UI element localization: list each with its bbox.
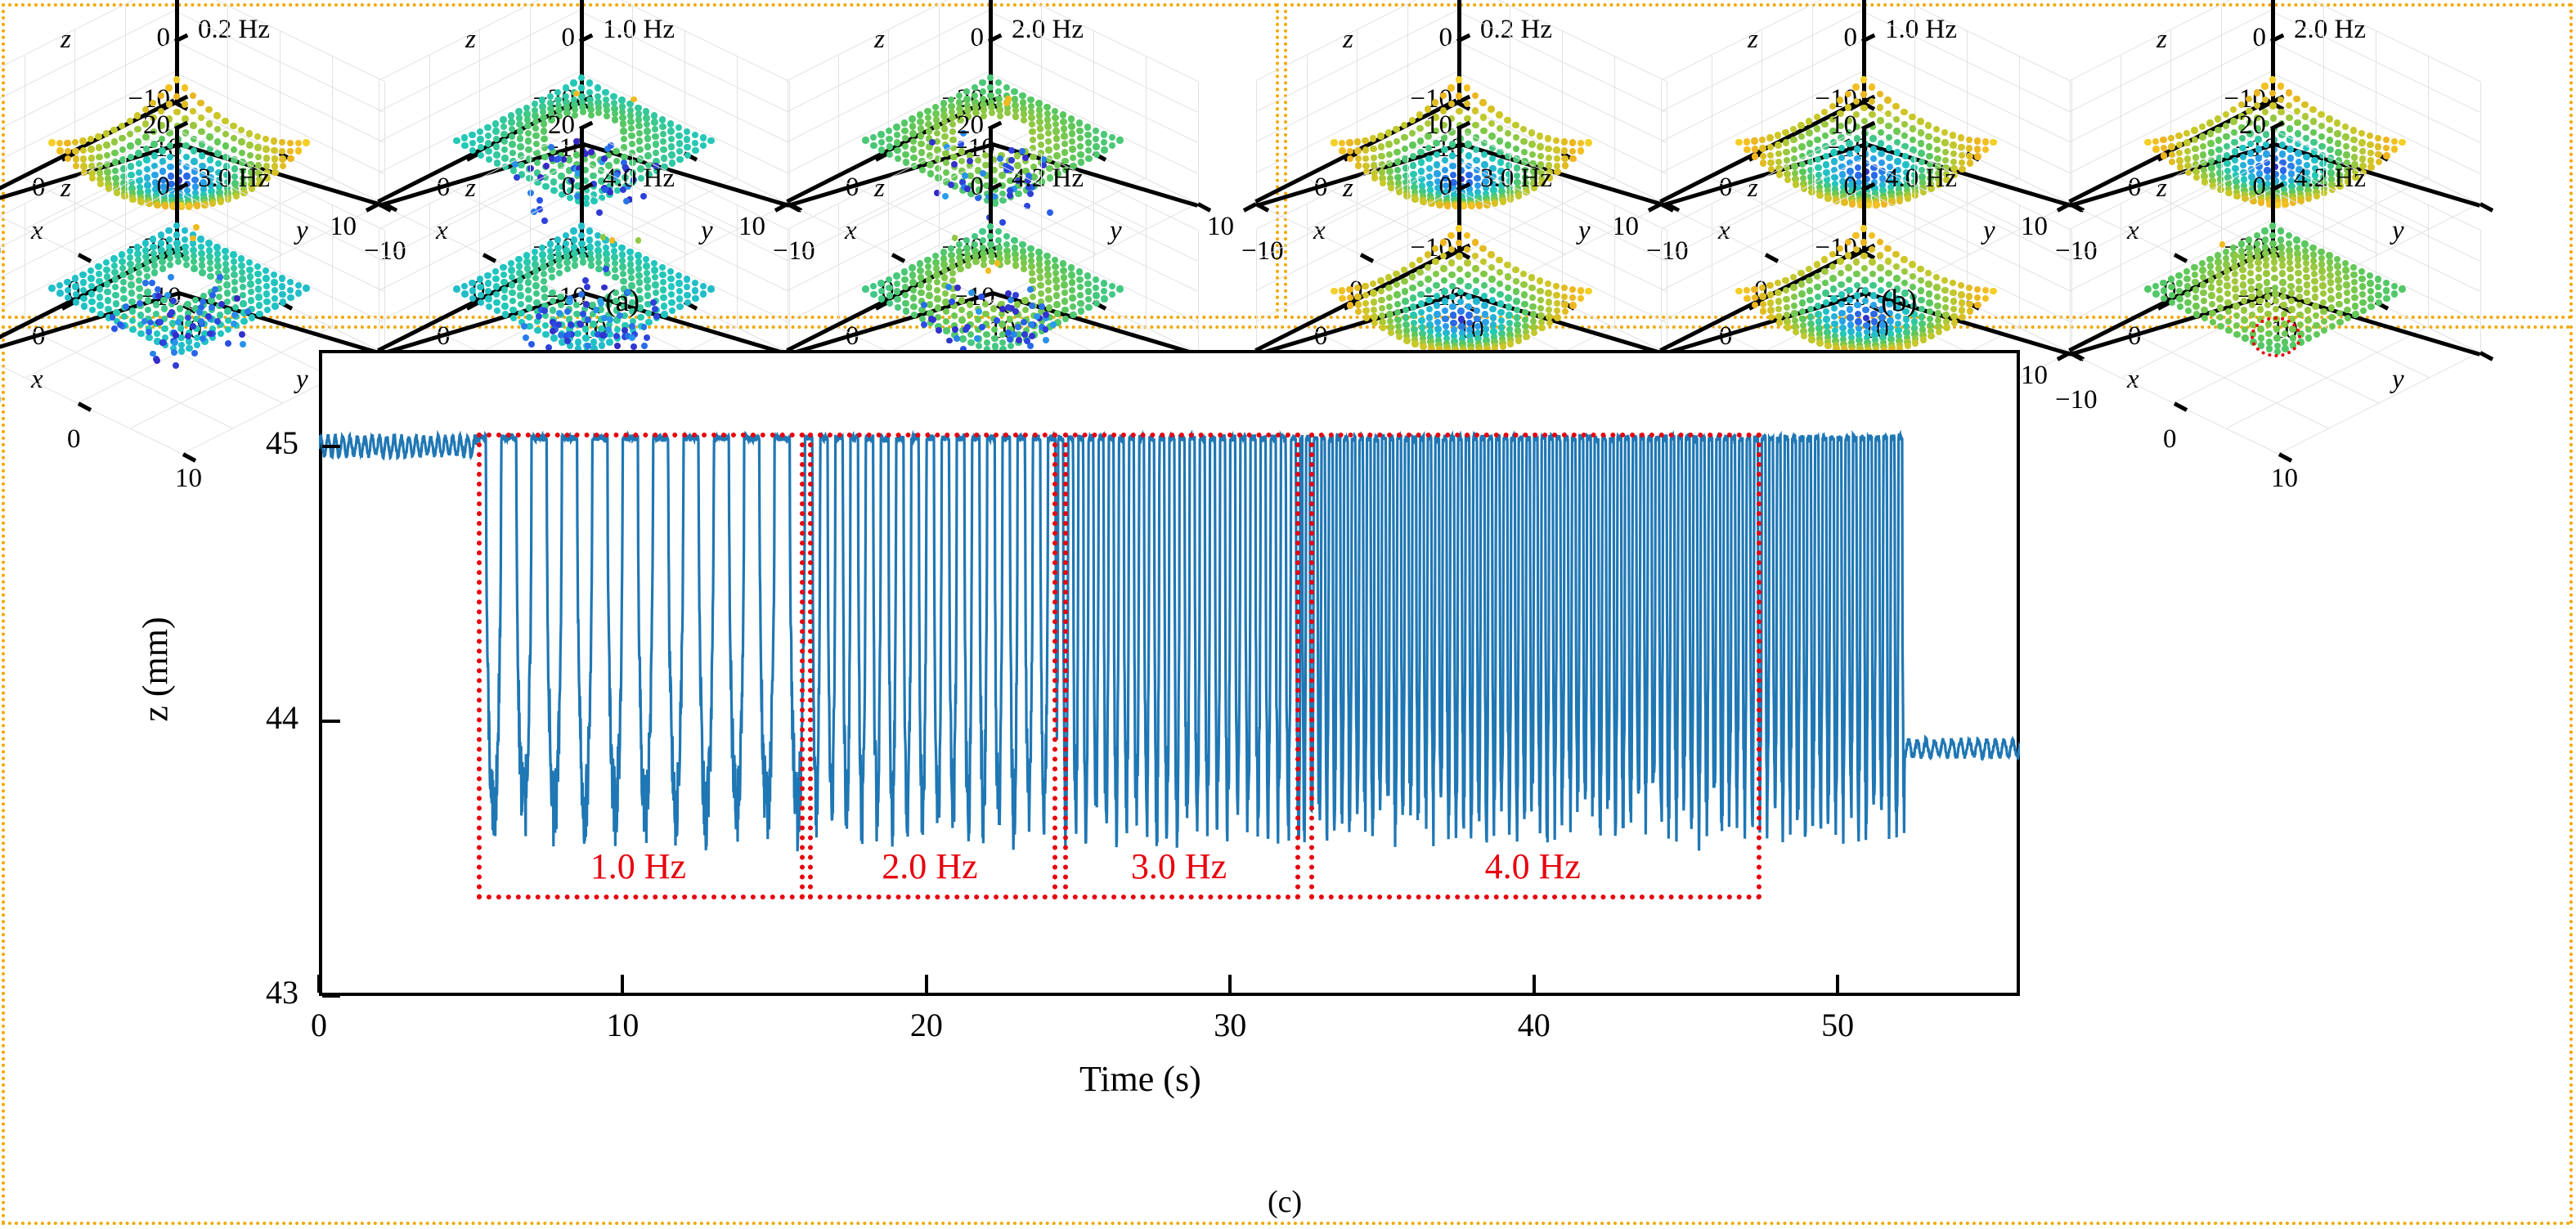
data-point (1053, 292, 1060, 298)
data-point (199, 262, 205, 268)
data-point (1077, 135, 1084, 141)
data-point (2273, 298, 2279, 304)
data-point (1497, 137, 1503, 144)
data-point (2255, 259, 2261, 266)
data-point (238, 138, 245, 145)
data-point (2352, 311, 2358, 317)
data-point (1061, 307, 1068, 313)
data-point (1464, 259, 1470, 266)
data-point (2351, 279, 2358, 285)
data-point (88, 290, 95, 297)
data-point (255, 278, 262, 285)
data-point (2175, 272, 2182, 279)
data-point (287, 140, 294, 146)
data-point (1068, 271, 1075, 278)
data-point (119, 258, 125, 265)
data-point (1004, 110, 1011, 116)
data-point (1354, 138, 1361, 145)
data-point (238, 262, 245, 269)
data-point (2261, 227, 2268, 234)
data-point (1784, 324, 1791, 330)
grid-line (1146, 204, 1147, 327)
data-point (2176, 295, 2183, 302)
data-point (2336, 301, 2342, 307)
data-point (1109, 142, 1115, 149)
data-point (1370, 289, 1376, 296)
data-point (1942, 296, 1949, 303)
data-point (1798, 290, 1805, 297)
data-point (2216, 279, 2223, 285)
data-point (509, 307, 516, 313)
data-point (1919, 313, 1925, 320)
data-point (508, 260, 514, 267)
data-point (886, 292, 893, 298)
data-point (518, 301, 524, 307)
data-point (2286, 114, 2292, 121)
data-point (2399, 285, 2405, 292)
data-point (2225, 308, 2232, 315)
data-point (1481, 302, 1488, 308)
grid-line (1667, 230, 1667, 352)
data-point (1958, 144, 1964, 150)
data-point (1885, 123, 1892, 129)
data-point (692, 132, 698, 138)
data-point (486, 303, 492, 310)
y-tick-label: 10 (175, 464, 202, 494)
data-point (461, 283, 468, 289)
data-point (1807, 313, 1814, 320)
data-point (1447, 84, 1454, 91)
data-point (184, 301, 191, 307)
data-point (549, 274, 555, 280)
data-point (910, 146, 917, 152)
data-point (168, 274, 174, 280)
data-point (1838, 301, 1845, 307)
data-point (926, 292, 932, 298)
data-point (2217, 304, 2224, 311)
data-point (182, 236, 188, 243)
data-point (2278, 83, 2284, 89)
data-point (1862, 307, 1869, 313)
data-point (700, 142, 707, 149)
data-point (1401, 278, 1407, 285)
data-point (1553, 146, 1560, 153)
data-point (1346, 139, 1353, 146)
data-point (1394, 301, 1401, 307)
data-point (1926, 290, 1932, 297)
data-point (2168, 135, 2174, 141)
data-point (595, 259, 602, 266)
data-point (1966, 293, 1972, 299)
data-point (222, 118, 228, 124)
data-point (158, 92, 164, 99)
data-point (2278, 96, 2284, 103)
data-point (570, 79, 577, 86)
data-point (644, 135, 651, 141)
data-point (586, 236, 593, 243)
data-point (1385, 285, 1392, 291)
data-point (161, 305, 168, 312)
data-point (1053, 284, 1060, 290)
data-point (612, 116, 618, 123)
data-point (1845, 91, 1851, 97)
data-point (147, 320, 154, 326)
data-point (1893, 128, 1900, 134)
data-point (886, 276, 892, 283)
data-point (1046, 304, 1052, 311)
data-point (477, 284, 483, 290)
data-point (1061, 289, 1068, 296)
data-point (485, 140, 491, 146)
data-point (1806, 277, 1812, 284)
data-point (925, 263, 931, 270)
data-point (1043, 104, 1050, 110)
data-point (501, 303, 508, 309)
data-point (501, 294, 508, 301)
data-point (1569, 294, 1576, 301)
data-point (1528, 141, 1535, 147)
data-point (469, 140, 476, 146)
data-point (1116, 285, 1123, 292)
data-point (2184, 291, 2191, 298)
data-point (1878, 276, 1884, 283)
grid-line (1661, 230, 1662, 352)
data-point (1877, 117, 1883, 123)
data-point (2318, 249, 2324, 255)
data-point (1829, 251, 1836, 258)
data-point (894, 296, 900, 303)
data-point (159, 258, 165, 265)
data-point (1760, 307, 1766, 314)
data-point (2367, 303, 2374, 310)
x-axis-tick-mark (1533, 975, 1536, 993)
data-point (1448, 259, 1455, 266)
data-point (287, 287, 294, 294)
data-point (1506, 303, 1512, 310)
grid-line (939, 154, 940, 276)
data-point (1061, 132, 1067, 139)
data-point (150, 141, 157, 147)
data-point (653, 313, 660, 320)
data-point (985, 267, 992, 274)
grid-line (1812, 5, 1813, 128)
data-point (2296, 278, 2302, 285)
data-point (1845, 264, 1851, 271)
data-point (2183, 139, 2190, 146)
data-point (2280, 302, 2287, 308)
data-point (1482, 319, 1488, 325)
data-point (1505, 130, 1511, 137)
data-point (586, 79, 593, 86)
data-point (2335, 140, 2341, 146)
data-point (684, 292, 690, 298)
data-point (1814, 273, 1820, 280)
data-point (644, 270, 650, 276)
data-point (1545, 289, 1551, 296)
data-point (1456, 108, 1462, 114)
data-point (595, 266, 602, 272)
data-point (1465, 303, 1472, 310)
data-point (972, 84, 978, 91)
data-point (2328, 314, 2335, 321)
data-point (2350, 264, 2357, 271)
panel-b-label: (b) (1881, 283, 1917, 319)
data-point (1823, 316, 1829, 322)
data-point (870, 291, 877, 298)
data-point (2321, 318, 2327, 325)
data-point (620, 271, 626, 277)
data-point (621, 136, 627, 142)
data-point (230, 123, 236, 129)
data-point (1060, 119, 1066, 125)
grid-line (2120, 204, 2121, 327)
data-point (1523, 334, 1529, 340)
data-point (97, 311, 104, 317)
data-point (2233, 294, 2239, 300)
data-point (1456, 266, 1463, 272)
data-point (886, 285, 892, 291)
data-point (129, 317, 136, 324)
data-point (1528, 285, 1535, 291)
data-point (117, 321, 123, 328)
data-point (1982, 287, 1989, 294)
data-point (279, 139, 285, 146)
data-point (635, 123, 642, 129)
data-point (928, 316, 935, 322)
axes-3d (483, 165, 753, 370)
data-point (1877, 91, 1883, 97)
data-point (2240, 289, 2246, 296)
data-point (2199, 267, 2206, 273)
y-tick-mark (78, 401, 92, 411)
data-point (1520, 271, 1527, 277)
data-point (676, 295, 683, 302)
data-point (926, 276, 932, 283)
data-point (2241, 316, 2247, 323)
data-point (958, 316, 965, 323)
data-point (613, 333, 620, 339)
data-point (2286, 232, 2292, 239)
data-point (1498, 317, 1505, 324)
data-point (2327, 146, 2333, 153)
data-point (2296, 302, 2303, 308)
data-point (1403, 337, 1410, 343)
data-point (533, 290, 540, 297)
data-point (167, 262, 173, 268)
data-point (1052, 128, 1059, 134)
data-point (2318, 111, 2324, 118)
grid-line (0, 10, 175, 112)
data-point (112, 284, 119, 290)
data-point (240, 341, 246, 348)
data-point (2191, 264, 2197, 271)
data-point (145, 307, 151, 313)
axes-3d (1766, 165, 2035, 370)
data-point (2152, 283, 2159, 289)
data-point (1515, 337, 1522, 343)
data-point (1759, 285, 1766, 291)
data-point (1585, 139, 1591, 146)
data-point (1370, 280, 1376, 287)
data-point (1043, 337, 1049, 343)
data-point (2303, 267, 2309, 273)
data-point (1505, 294, 1511, 301)
data-point (635, 272, 642, 279)
data-point (1378, 297, 1384, 303)
data-point (948, 245, 954, 252)
data-point (956, 241, 963, 248)
data-point (2247, 262, 2254, 269)
data-point (2304, 316, 2311, 323)
data-point (120, 286, 127, 293)
data-point (1577, 295, 1584, 302)
data-point (1029, 270, 1035, 276)
data-point (1951, 319, 1958, 325)
data-point (1569, 286, 1576, 293)
data-point (1905, 343, 1911, 349)
data-point (255, 294, 262, 300)
data-point (2336, 284, 2342, 290)
data-point (1339, 140, 1345, 146)
data-point (2359, 283, 2366, 289)
data-point (1784, 304, 1790, 311)
data-point (1783, 296, 1789, 303)
data-point (2200, 143, 2206, 150)
data-point (636, 130, 643, 137)
data-point (580, 311, 586, 317)
data-point (1846, 140, 1852, 146)
data-point (1052, 263, 1058, 270)
data-point (158, 231, 164, 238)
data-point (886, 143, 893, 150)
data-point (1456, 225, 1462, 231)
data-point (901, 276, 908, 283)
data-point (1479, 99, 1486, 105)
data-point (136, 270, 142, 276)
data-point (1061, 281, 1067, 288)
data-point (982, 301, 989, 307)
data-point (2375, 284, 2381, 290)
data-point (1766, 134, 1773, 141)
data-point (949, 277, 956, 284)
data-point (2184, 299, 2191, 306)
data-point (684, 136, 690, 142)
data-point (153, 301, 159, 307)
grid-line (2428, 204, 2429, 327)
data-point (1402, 288, 1408, 294)
data-point (668, 143, 675, 150)
data-point (1037, 125, 1043, 132)
data-point (1474, 316, 1480, 322)
frequency-segment-label: 3.0 Hz (1131, 845, 1227, 887)
data-point (1870, 292, 1877, 298)
data-point (492, 276, 499, 282)
data-point (893, 272, 900, 279)
data-point (146, 334, 152, 341)
data-point (1870, 311, 1877, 317)
data-point (175, 258, 182, 265)
data-point (2279, 262, 2286, 268)
data-point (2334, 119, 2340, 126)
data-point (893, 123, 900, 130)
data-point (2264, 302, 2271, 308)
data-point (1450, 320, 1456, 326)
data-point (1767, 299, 1774, 306)
data-point (1751, 137, 1757, 144)
data-point (1829, 103, 1836, 110)
y-axis-title: z (mm) (135, 563, 177, 776)
data-point (1751, 286, 1757, 293)
data-point (207, 266, 213, 272)
data-point (602, 89, 608, 96)
data-point (191, 350, 198, 357)
data-point (88, 298, 95, 305)
data-point (1036, 267, 1043, 274)
data-point (995, 79, 1002, 86)
data-point (979, 228, 985, 235)
data-point (1807, 306, 1814, 312)
data-point (1767, 291, 1774, 298)
data-point (1950, 298, 1957, 304)
data-point (556, 262, 563, 269)
data-point (72, 283, 79, 289)
x-axis-tick-mark (621, 975, 624, 993)
data-point (516, 262, 523, 269)
data-point (1936, 329, 1942, 335)
data-point (168, 309, 175, 316)
data-point (574, 330, 581, 337)
data-point (231, 265, 237, 271)
data-point (1775, 132, 1781, 138)
data-point (1443, 323, 1449, 330)
grid-line (1812, 154, 1813, 276)
data-point (2295, 130, 2301, 137)
data-point (105, 306, 111, 312)
data-point (1043, 253, 1050, 259)
data-point (2350, 137, 2357, 143)
data-point (644, 128, 650, 134)
data-point (2242, 334, 2248, 341)
data-point (1806, 140, 1813, 146)
data-point (1878, 129, 1884, 136)
data-point (1076, 268, 1083, 275)
data-point (1418, 300, 1425, 307)
panel-c-label: (c) (1268, 1184, 1302, 1220)
data-point (1514, 314, 1520, 321)
data-point (213, 112, 220, 119)
data-point (207, 273, 213, 280)
data-point (1925, 133, 1932, 140)
data-point (65, 287, 71, 294)
data-point (1093, 276, 1099, 283)
data-point (1920, 336, 1927, 343)
data-point (1371, 298, 1377, 305)
data-point (1821, 268, 1828, 275)
data-point (1465, 141, 1471, 147)
data-point (1448, 101, 1455, 107)
data-point (2232, 285, 2238, 292)
data-point (256, 311, 263, 317)
data-point (194, 342, 200, 348)
data-point (173, 231, 180, 238)
data-point (1488, 105, 1494, 112)
data-point (2168, 276, 2174, 282)
data-point (1506, 312, 1512, 318)
data-point (1101, 146, 1107, 153)
data-point (1910, 273, 1916, 280)
data-point (652, 133, 658, 140)
data-point (2383, 145, 2390, 151)
